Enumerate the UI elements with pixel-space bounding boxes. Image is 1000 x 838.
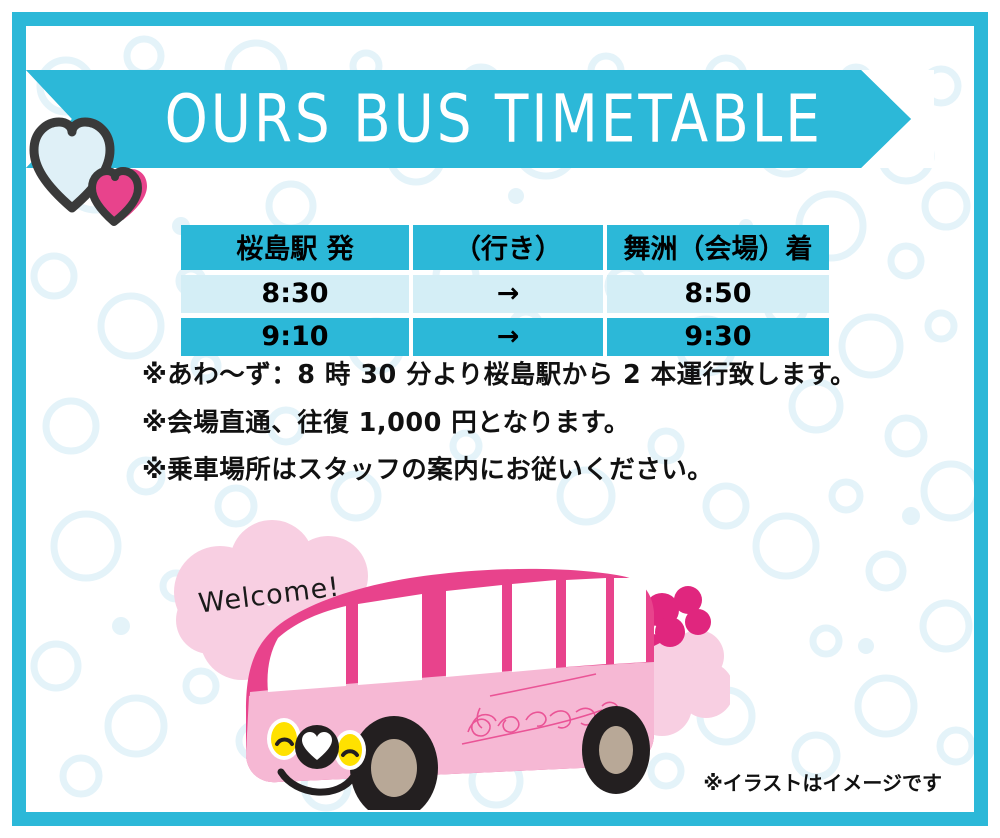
note-item: ※会場直通、往復 1,000 円となります。 [142, 411, 902, 437]
header-depart-station: 桜島駅 発 [181, 225, 409, 270]
arrow-icon: → [413, 318, 603, 356]
bus-window-5 [566, 578, 606, 667]
poster-root: OURS BUS TIMETABLE 桜島駅 発 （行き） 舞洲（会場）着 8:… [0, 0, 1000, 838]
bus-window-3 [446, 585, 502, 677]
cell-depart-time: 8:30 [181, 275, 409, 313]
bus-timetable: 桜島駅 発 （行き） 舞洲（会場）着 8:30 → 8:50 9:10 → 9:… [177, 220, 833, 361]
hearts-decoration [28, 104, 158, 226]
table-row: 8:30 → 8:50 [181, 275, 829, 313]
bus-headlight-left [267, 718, 301, 760]
notes-list: ※あわ〜ず：8 時 30 分より桜島駅から 2 本運行致します。 ※会場直通、往… [142, 363, 902, 506]
bus-window-2 [358, 594, 422, 685]
note-item: ※あわ〜ず：8 時 30 分より桜島駅から 2 本運行致します。 [142, 363, 902, 389]
arrow-icon: → [413, 275, 603, 313]
bus-window-4 [512, 580, 556, 672]
table-row: 9:10 → 9:30 [181, 318, 829, 356]
bus-window-6 [614, 578, 646, 664]
bus-rear-wheel [582, 706, 650, 794]
header-direction: （行き） [413, 225, 603, 270]
illustration-footnote: ※イラストはイメージです [703, 767, 942, 796]
cell-arrive-time: 9:30 [607, 318, 829, 356]
cell-depart-time: 9:10 [181, 318, 409, 356]
note-item: ※乗車場所はスタッフの案内にお従いください。 [142, 458, 902, 484]
table-header-row: 桜島駅 発 （行き） 舞洲（会場）着 [181, 225, 829, 270]
header-arrive-venue: 舞洲（会場）着 [607, 225, 829, 270]
heart-small-outline [92, 171, 138, 222]
bus-heart-nose [295, 725, 339, 769]
bus-headlight-right [334, 730, 366, 770]
bus-illustration-group: Welcome! [150, 520, 730, 810]
banner-ribbon: OURS BUS TIMETABLE [26, 70, 934, 168]
banner-title: OURS BUS TIMETABLE [35, 61, 925, 177]
cell-arrive-time: 8:50 [607, 275, 829, 313]
